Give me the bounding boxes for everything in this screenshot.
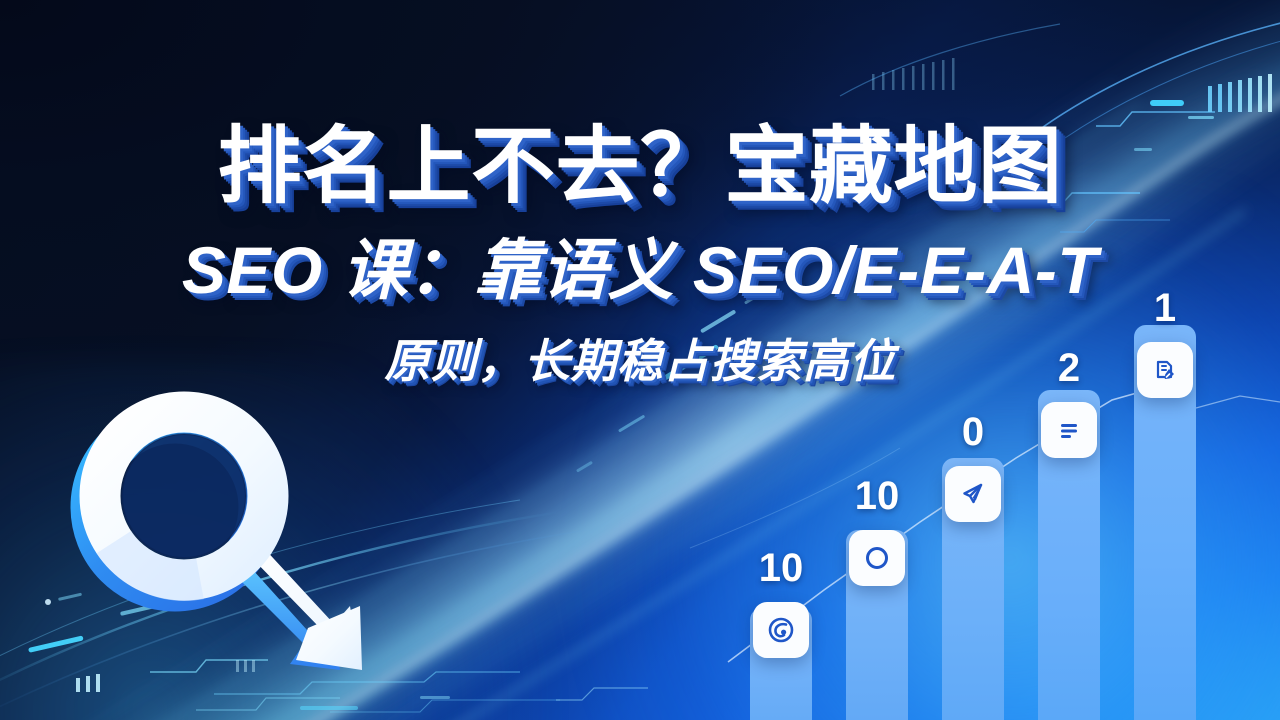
ring-circle-icon xyxy=(849,530,905,586)
document-lines-icon xyxy=(1041,402,1097,458)
paper-plane-icon xyxy=(945,466,1001,522)
poster-canvas: 排名上不去？宝藏地图 SEO 课：靠语义 SEO/E-E-A-T 原则，长期稳占… xyxy=(0,0,1280,720)
bar-label-2: 10 xyxy=(834,476,920,516)
bar-label-4: 2 xyxy=(1026,348,1112,388)
headline-line-1: 排名上不去？宝藏地图 xyxy=(0,118,1280,214)
search-magnifier-arrow-icon xyxy=(62,378,422,688)
bar-label-1: 10 xyxy=(738,548,824,588)
bar-label-3: 0 xyxy=(930,412,1016,452)
bar-label-5: 1 xyxy=(1122,288,1208,328)
spiral-circle-icon xyxy=(753,602,809,658)
document-edit-icon xyxy=(1137,342,1193,398)
bar-chart: 10 10 0 2 xyxy=(720,290,1280,720)
